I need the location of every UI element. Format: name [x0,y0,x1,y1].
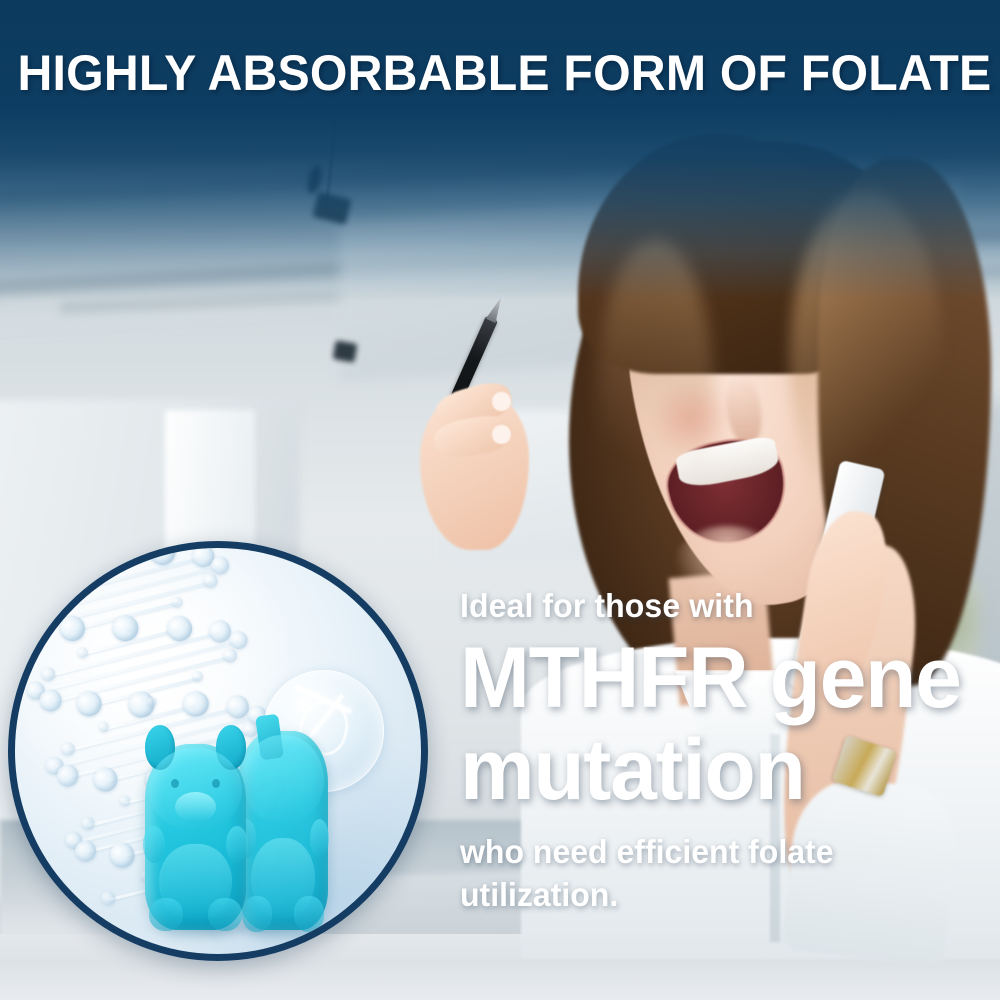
gummy-arm [310,819,330,859]
dna-node [59,741,75,757]
gummy-leg [149,898,184,931]
dna-node [221,647,238,664]
gummy-head [242,735,324,822]
product-circle-inner [15,548,421,954]
gummy-bear-front [145,744,247,930]
dna-node [76,646,89,659]
dna-node [201,572,218,589]
track-light-icon [333,340,358,363]
copy-tail-line-2: utilization. [460,873,964,916]
dna-node [100,890,116,906]
marketing-copy: Ideal for those with MTHFR gene mutation… [460,586,980,916]
gummy-leg [294,896,324,932]
dna-node [170,595,184,609]
copy-eyebrow: Ideal for those with [460,586,964,626]
dna-node [39,666,56,683]
dna-node [224,693,251,720]
dna-node [97,720,110,733]
gummy-leg [208,898,243,931]
gummy-bears [137,719,340,930]
dna-rung [17,565,221,619]
gummy-leg [242,896,272,932]
product-banner: HIGHLY ABSORBABLE FORM OF FOLATE Ideal f… [0,0,1000,1000]
product-circle [8,541,428,961]
fingernail [492,392,510,412]
fingernail [492,425,510,445]
gummy-muzzle [175,792,216,822]
gummy-bear-back [238,731,327,929]
copy-emphasis-line-2: mutation [460,730,967,810]
hair-highlight [598,238,713,542]
dna-node [118,795,131,808]
dna-node [19,591,36,608]
dna-node [55,571,68,584]
gummy-arm [226,826,248,863]
copy-emphasis-line-1: MTHFR gene [460,638,967,718]
gummy-arm [143,826,165,863]
hand-holding-pen [400,330,540,550]
copy-tail-line-1: who need efficient folate [460,830,964,873]
dna-node [191,670,205,684]
dna-rung [35,640,239,693]
page-title: HIGHLY ABSORBABLE FORM OF FOLATE [18,44,983,102]
dna-node [79,816,95,832]
